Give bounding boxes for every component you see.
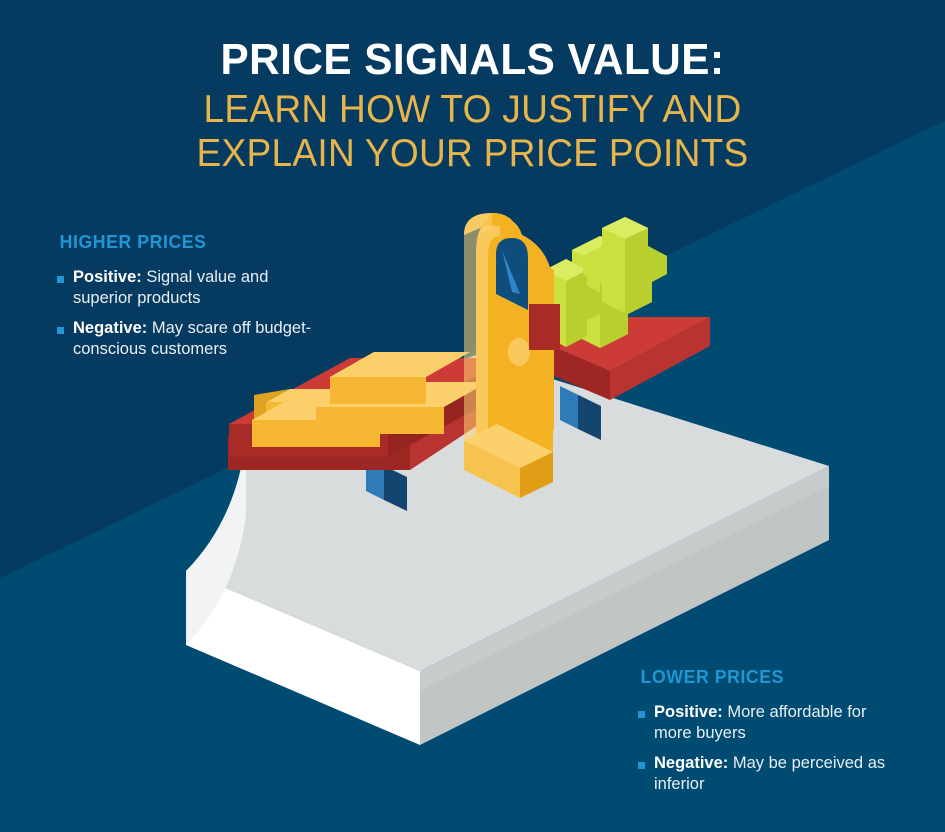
bullet-square-icon (638, 762, 645, 769)
bullet-square-icon (57, 276, 64, 283)
lower-positive-label: Positive: (654, 703, 723, 721)
lower-prices-bullet-positive: Positive: More affordable for more buyer… (638, 702, 906, 744)
infographic-canvas: PRICE SIGNALS VALUE: LEARN HOW TO JUSTIF… (0, 0, 945, 832)
higher-negative-label: Negative: (73, 319, 147, 337)
lower-prices-bullet-negative: Negative: May be perceived as inferior (638, 753, 906, 795)
callout-lower-prices: LOWER PRICES Positive: More affordable f… (638, 667, 906, 804)
higher-prices-bullet-positive: Positive: Signal value and superior prod… (57, 267, 323, 309)
callout-higher-prices: HIGHER PRICES Positive: Signal value and… (57, 232, 323, 369)
higher-prices-heading: HIGHER PRICES (60, 232, 321, 253)
bullet-square-icon (57, 327, 64, 334)
bullet-square-icon (638, 711, 645, 718)
higher-positive-label: Positive: (73, 268, 142, 286)
lower-negative-label: Negative: (654, 754, 728, 772)
higher-prices-bullet-negative: Negative: May scare off budget-conscious… (57, 318, 323, 360)
lower-prices-heading: LOWER PRICES (641, 667, 904, 688)
